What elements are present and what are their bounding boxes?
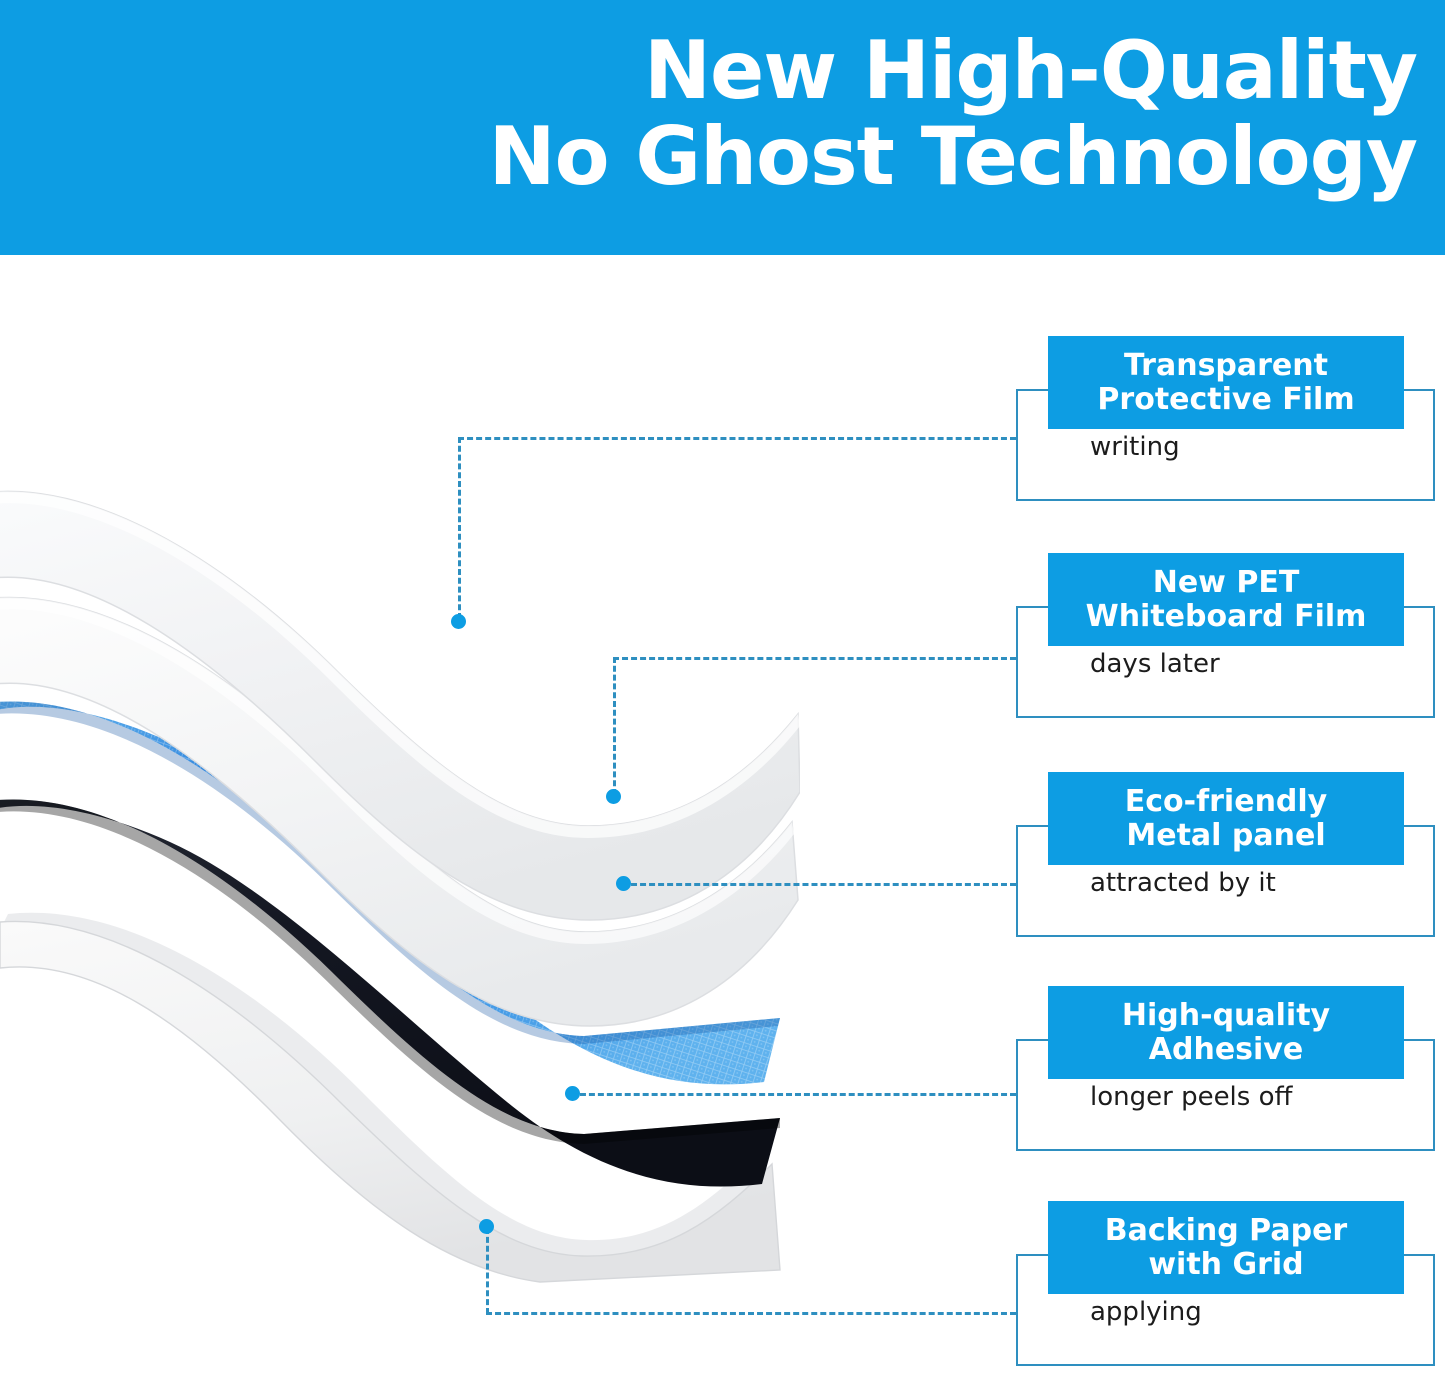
callout-title: Backing Paper with Grid xyxy=(1048,1201,1404,1294)
header-banner: New High-Quality No Ghost Technology xyxy=(0,0,1445,255)
callout-title: High-quality Adhesive xyxy=(1048,986,1404,1079)
leader-line-2-horizontal xyxy=(613,657,1016,660)
leader-line-3-horizontal xyxy=(622,883,1016,886)
leader-line-4-horizontal xyxy=(571,1093,1016,1096)
leader-line-2-vertical xyxy=(613,657,616,795)
leader-dot-3 xyxy=(616,876,631,891)
leader-dot-1 xyxy=(451,614,466,629)
leader-line-1-vertical xyxy=(458,437,461,619)
leader-line-1-horizontal xyxy=(458,437,1016,440)
callout-title: New PET Whiteboard Film xyxy=(1048,553,1404,646)
leader-dot-2 xyxy=(606,789,621,804)
callout-title: Eco-friendly Metal panel xyxy=(1048,772,1404,865)
leader-dot-5 xyxy=(479,1219,494,1234)
callout-title: Transparent Protective Film xyxy=(1048,336,1404,429)
leader-line-5-vertical xyxy=(486,1228,489,1314)
leader-line-5-horizontal xyxy=(486,1312,1016,1315)
page-title: New High-Quality No Ghost Technology xyxy=(0,28,1417,199)
infographic-page: New High-Quality No Ghost Technology xyxy=(0,0,1445,1379)
leader-dot-4 xyxy=(565,1086,580,1101)
